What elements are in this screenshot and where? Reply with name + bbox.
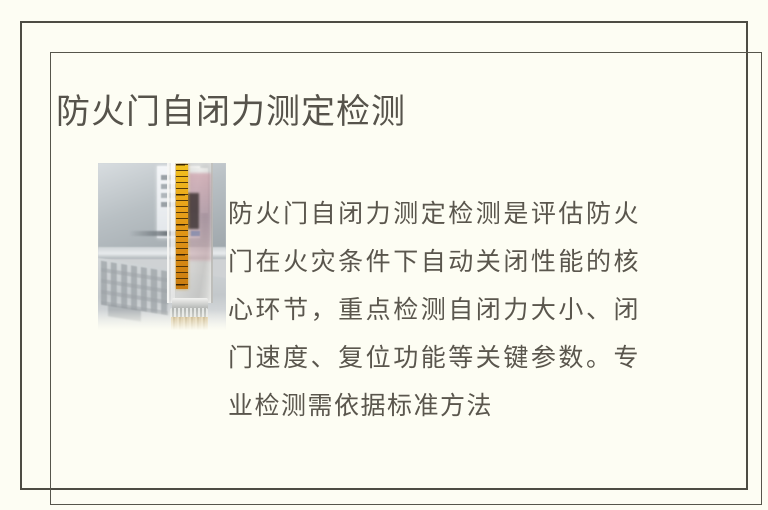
flow-meter-body [167,163,213,303]
flow-meter-glass-highlight [171,163,175,303]
flow-meter-instrument-photo [98,163,226,334]
article-body-text: 防火门自闭力测定检测是评估防火门在火灾条件下自动关闭性能的核心环节，重点检测自闭… [228,190,640,430]
flow-meter-major-ticks [176,164,185,289]
flow-meter-scale [176,164,189,289]
photo-bottom-fade [98,310,226,334]
photo-canvas [98,163,226,334]
page-title: 防火门自闭力测定检测 [56,89,406,135]
